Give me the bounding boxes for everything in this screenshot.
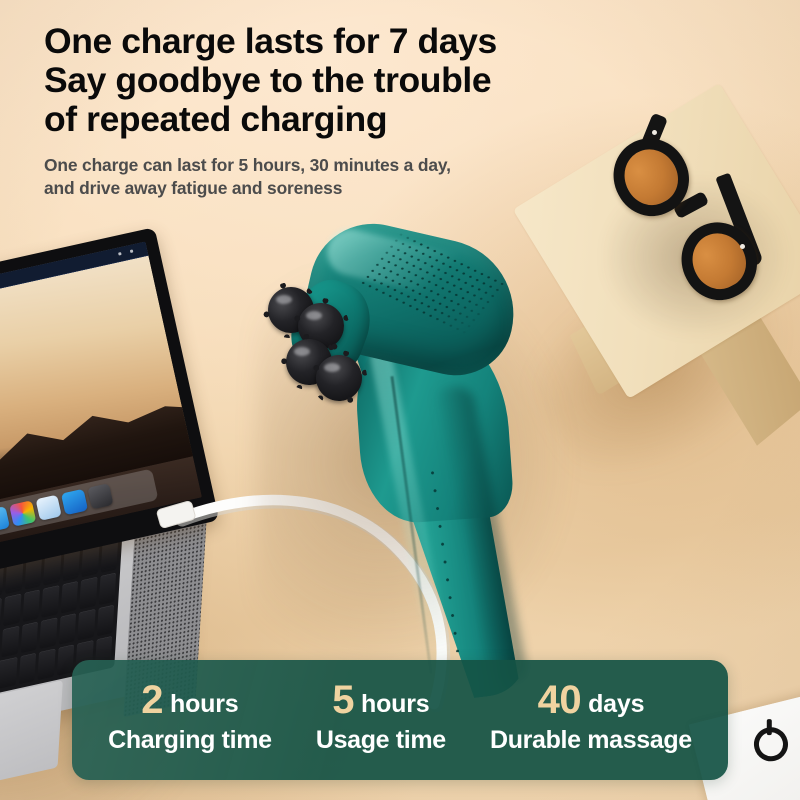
node-highlight [324, 363, 340, 372]
stat-number: 5 [332, 678, 354, 722]
stat-unit: hours [170, 690, 238, 718]
stat-value-row: 2hours [108, 680, 272, 720]
stat-usage-time: 5hours Usage time [316, 680, 446, 754]
stat-label: Charging time [108, 727, 272, 754]
page-subtitle: One charge can last for 5 hours, 30 minu… [44, 154, 584, 199]
neck-massager-product [250, 225, 610, 685]
laptop-prop [0, 258, 250, 728]
dock-icon-safari [61, 489, 88, 516]
stat-value-row: 40days [490, 680, 692, 720]
headline-line-1: One charge lasts for 7 days [44, 22, 584, 61]
stat-charging-time: 2hours Charging time [108, 680, 272, 754]
dock-icon-mail [35, 494, 62, 521]
marketing-copy: One charge lasts for 7 days Say goodbye … [44, 22, 584, 199]
stat-number: 2 [141, 678, 163, 722]
node-highlight [276, 295, 292, 304]
stat-label: Durable massage [490, 727, 692, 754]
stat-label: Usage time [316, 727, 446, 754]
subcopy-line-2: and drive away fatigue and soreness [44, 177, 584, 200]
sunglasses-prop [600, 112, 790, 322]
stat-number: 40 [538, 678, 582, 722]
stat-unit: hours [361, 690, 429, 718]
headline-line-2: Say goodbye to the trouble [44, 61, 584, 100]
node-highlight [294, 347, 310, 356]
partial-glyph-icon [750, 724, 791, 765]
dock-icon-photos [9, 500, 36, 527]
product-banner-stage: One charge lasts for 7 days Say goodbye … [0, 0, 800, 800]
sunglasses-hinge-upper [652, 130, 657, 135]
page-title: One charge lasts for 7 days Say goodbye … [44, 22, 584, 139]
node-highlight [306, 311, 322, 320]
stat-unit: days [588, 690, 644, 718]
stat-value-row: 5hours [316, 680, 446, 720]
laptop-screen [0, 242, 202, 549]
subcopy-line-1: One charge can last for 5 hours, 30 minu… [44, 154, 584, 177]
dock-icon-settings [87, 483, 114, 510]
stats-banner: 2hours Charging time 5hours Usage time 4… [72, 660, 728, 780]
sunglasses-hinge-lower [740, 244, 745, 249]
headline-line-3: of repeated charging [44, 100, 584, 139]
laptop-lid [0, 227, 219, 577]
stat-durable-massage: 40days Durable massage [490, 680, 692, 754]
dock-icon-finder [0, 506, 10, 533]
